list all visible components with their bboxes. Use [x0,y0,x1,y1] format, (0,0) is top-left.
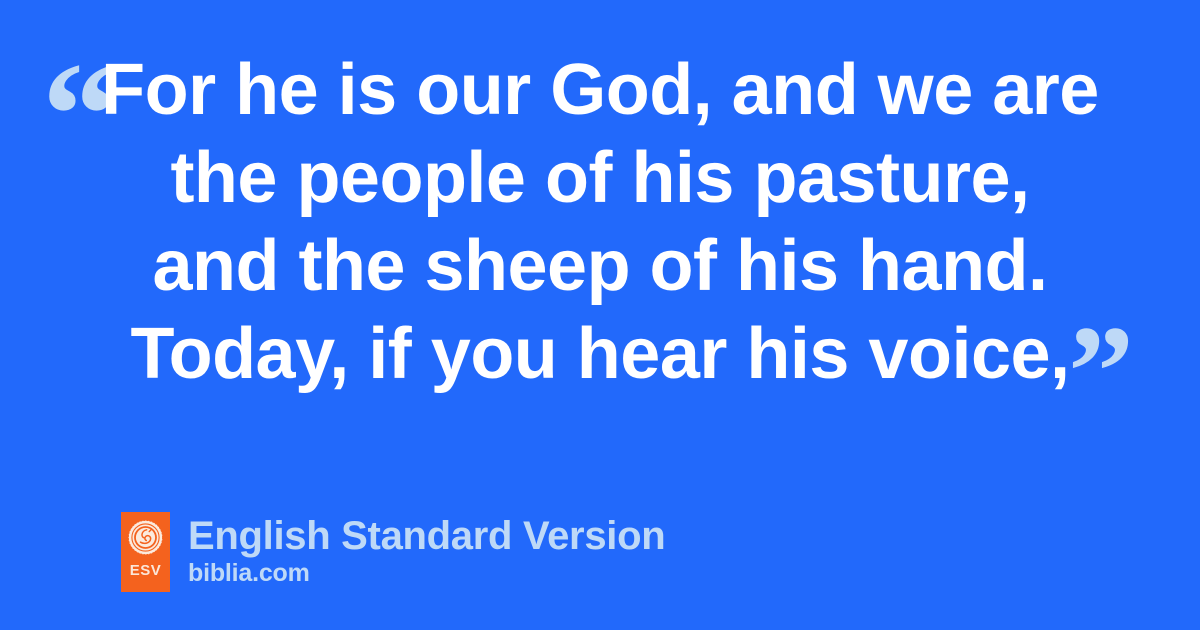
verse-line: For he is our God, and we are [60,46,1140,134]
esv-seal-icon [127,519,164,556]
verse-text: For he is our God, and we are the people… [60,46,1140,398]
website-label: biblia.com [188,558,665,588]
verse-image-card: “ For he is our God, and we are the peop… [0,0,1200,630]
attribution-text: English Standard Version biblia.com [188,512,665,588]
verse-line: Today, if you hear his voice, [60,310,1140,398]
attribution: ESV English Standard Version biblia.com [121,512,665,592]
esv-logo-label: ESV [121,562,170,579]
bible-version-name: English Standard Version [188,514,665,558]
verse-line: and the sheep of his hand. [60,222,1140,310]
quote-block: “ For he is our God, and we are the peop… [0,46,1200,426]
verse-line: the people of his pasture, [60,134,1140,222]
esv-logo: ESV [121,512,170,592]
close-quotation-mark-icon: ” [1068,306,1134,438]
